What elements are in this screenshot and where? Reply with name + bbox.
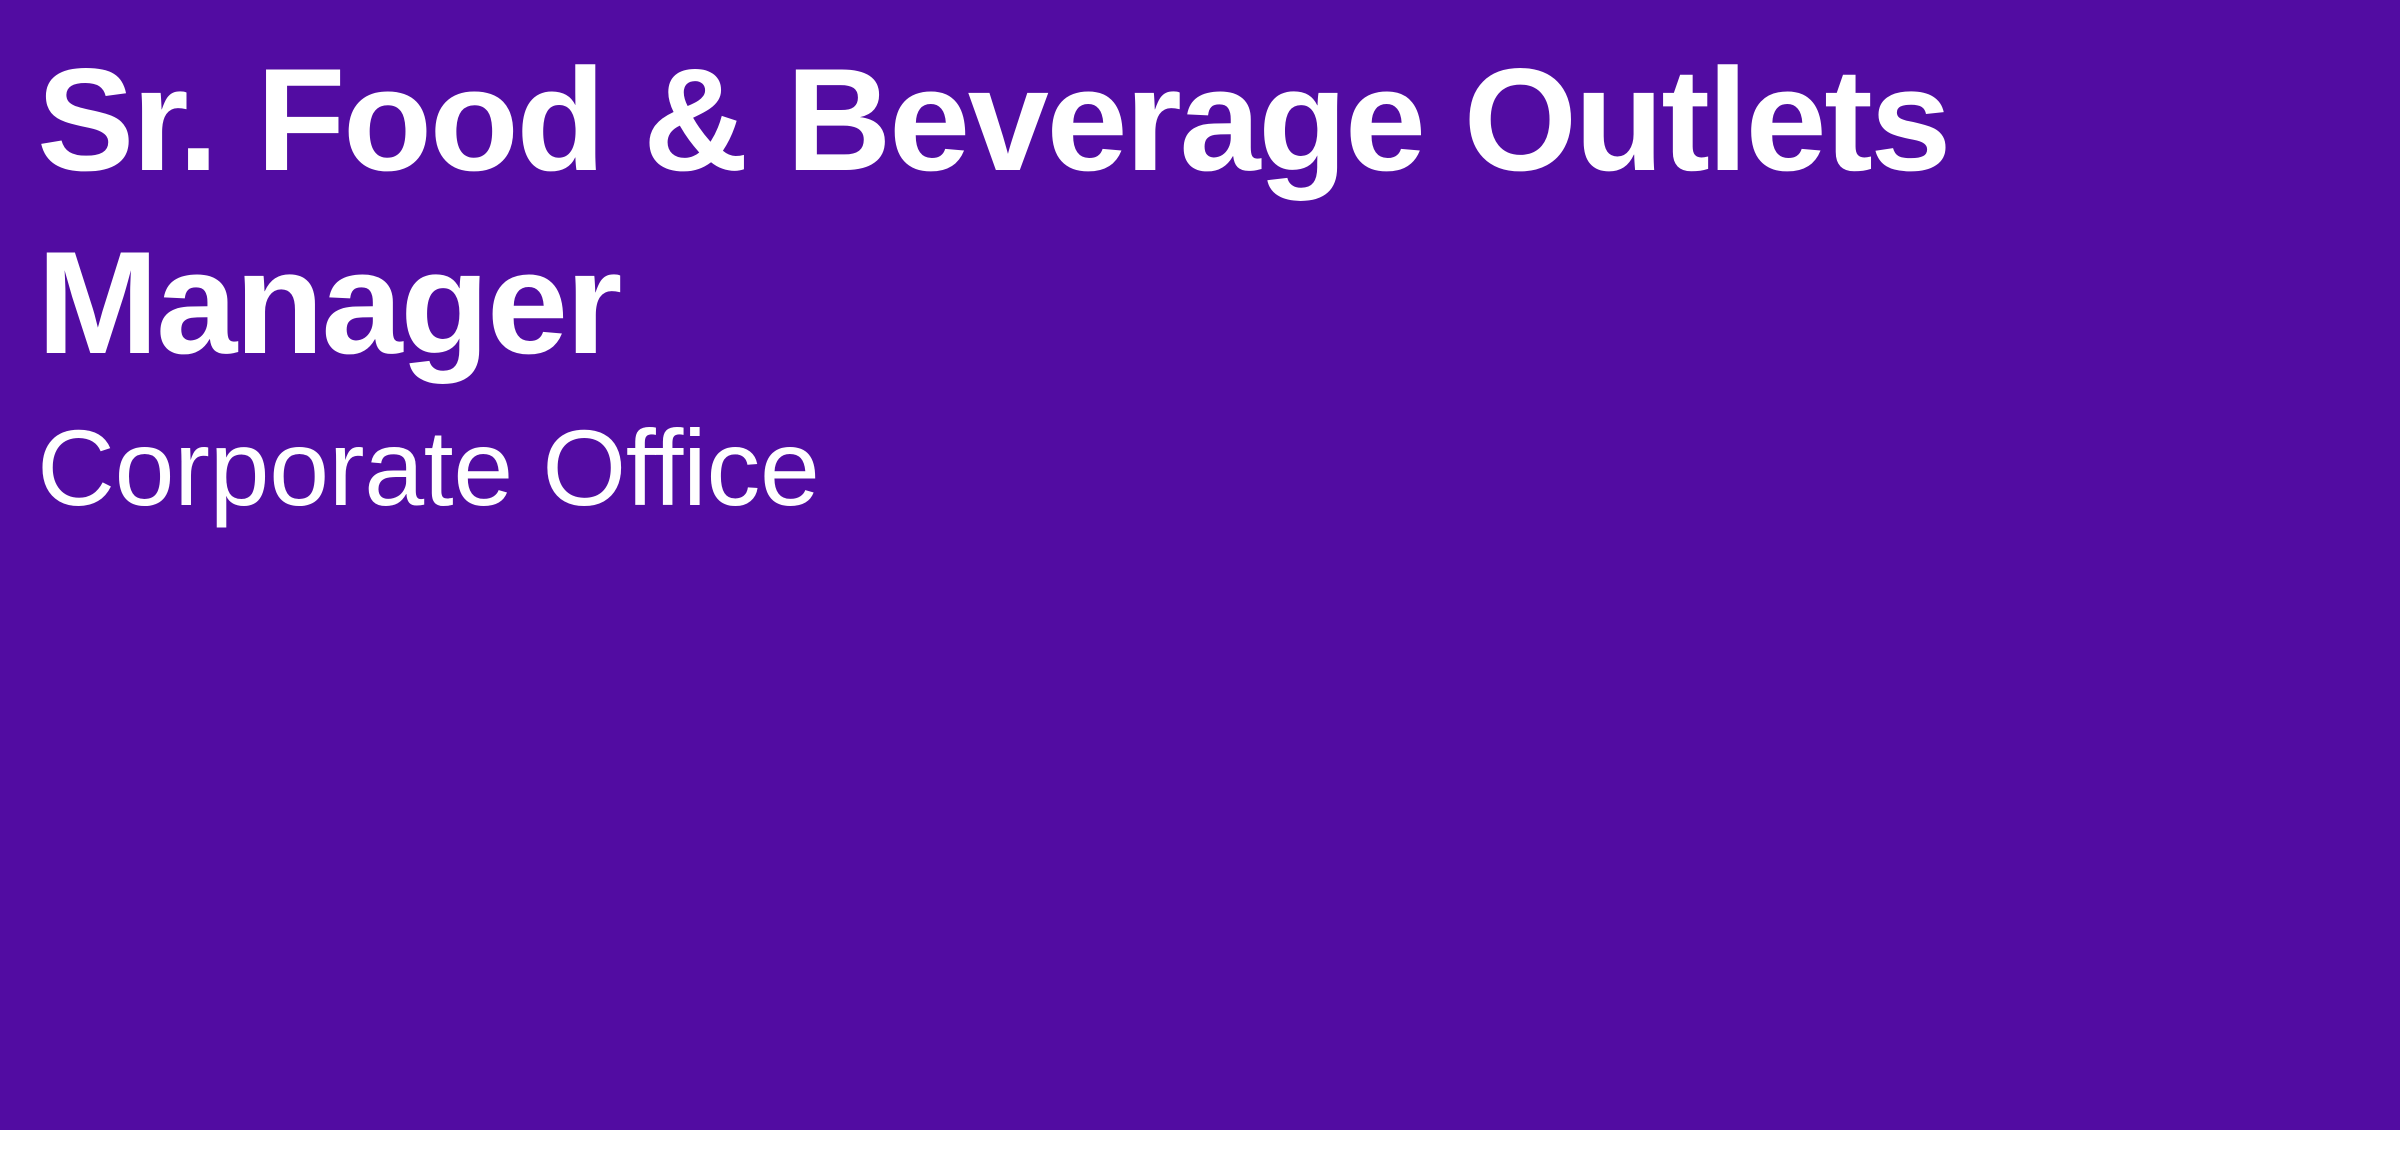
job-header-banner: Sr. Food & Beverage Outlets Manager Corp…	[0, 0, 2400, 1130]
page-title: Sr. Food & Beverage Outlets Manager	[37, 0, 2077, 394]
banner-footer-strip	[0, 1130, 2400, 1173]
header-text-block: Sr. Food & Beverage Outlets Manager Corp…	[37, 0, 2077, 524]
job-location-subtitle: Corporate Office	[37, 412, 2077, 524]
